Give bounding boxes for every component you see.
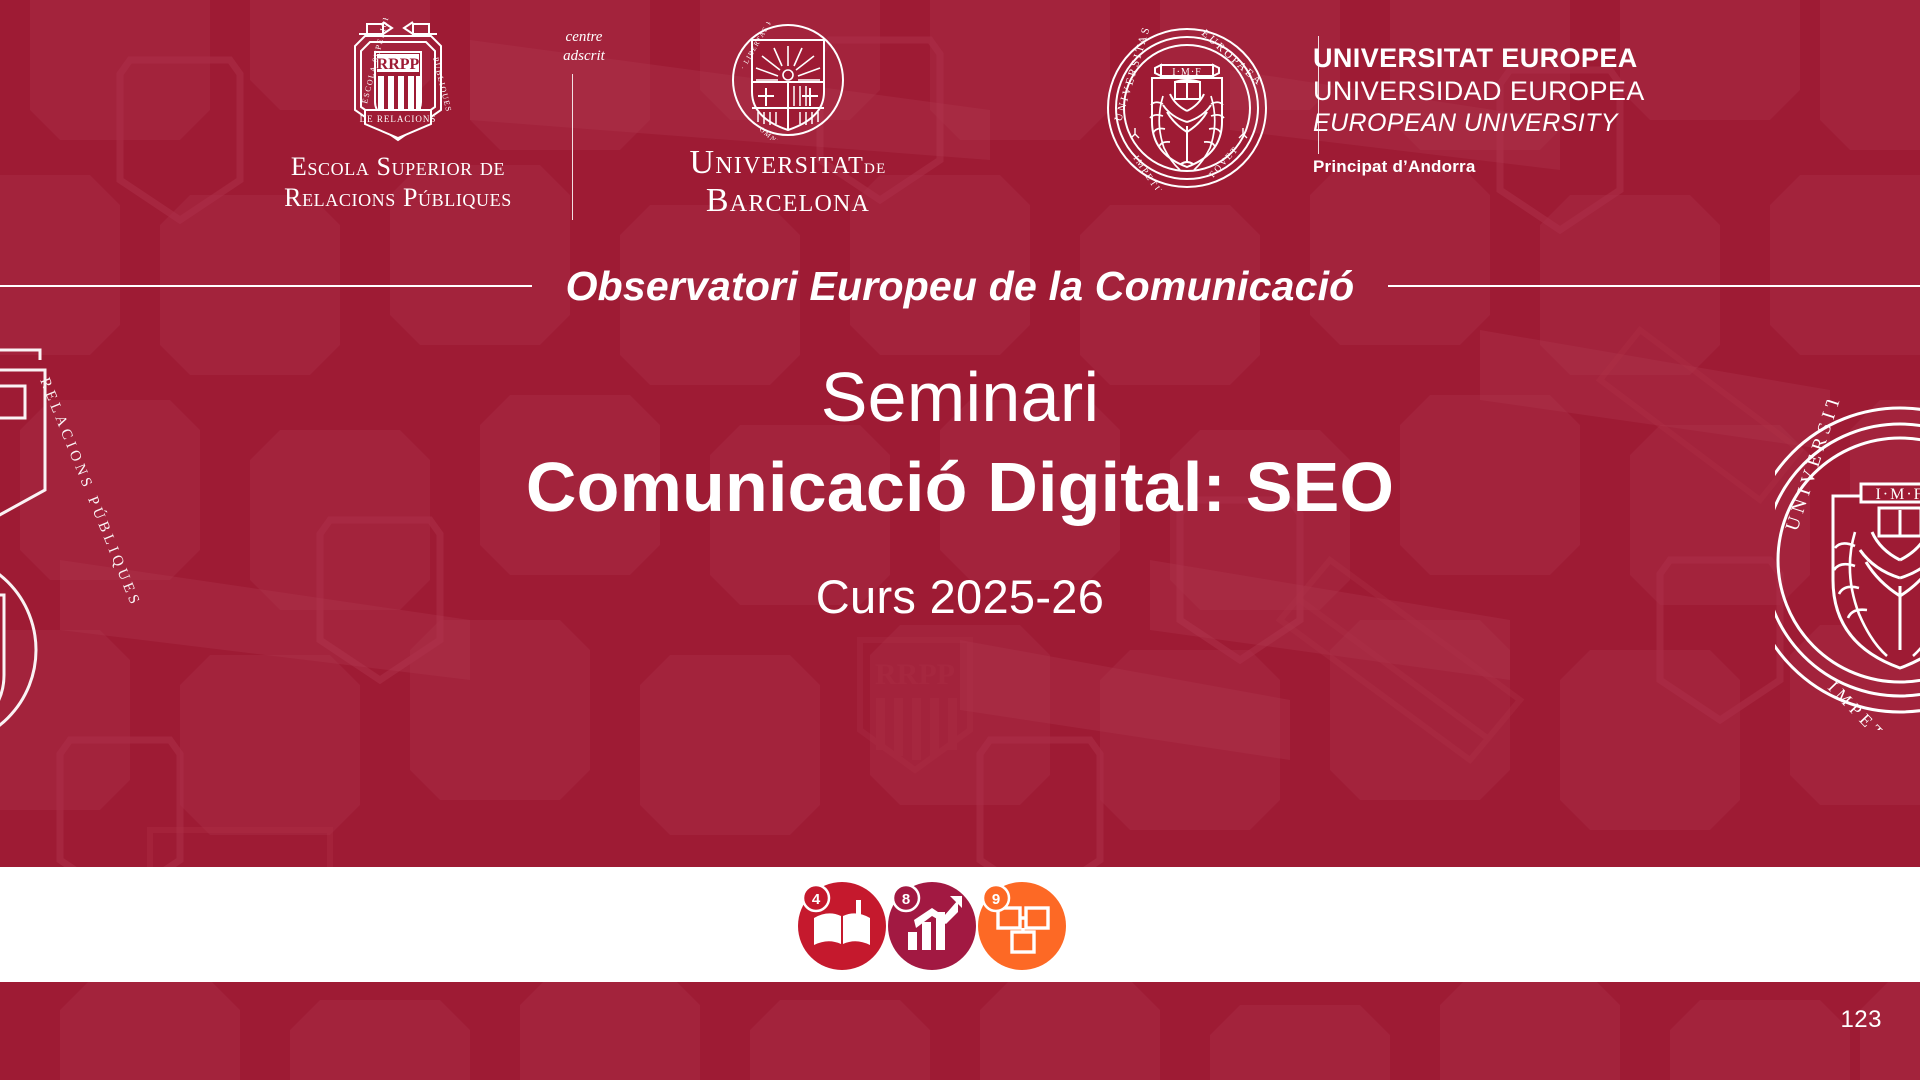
sdg-decent-work-growth-chart-icon: 8 [888, 882, 976, 970]
universitas-europaea-seal-icon: I·M·F UNIVERSITAS EUROPAEA IMPETUS FOVET [1105, 26, 1269, 195]
svg-text:8: 8 [902, 891, 910, 908]
logo-universitat-de-barcelona: · LIBERTAS PERFVNDET · · OMNIA LVCE · Un… [628, 22, 948, 220]
header-logos: RRPP DE RELACIONS ESCOLA SUPERIOR [0, 0, 1920, 250]
ub-wordmark: Universitatde Barcelona [628, 144, 948, 220]
header-divider-2 [1318, 36, 1319, 154]
ue-line-spanish: UNIVERSIDAD EUROPEA [1313, 75, 1645, 108]
sdg-icons-row: 4 8 [790, 878, 1120, 974]
esrp-wordmark: Escola Superior de Relacions Públiques [248, 152, 548, 213]
banner-rule-right [1388, 285, 1920, 287]
sdg-quality-education-book-icon: 4 [798, 882, 886, 970]
svg-text:RRPP: RRPP [377, 56, 420, 73]
logo-escola-superior-relacions-publiques: RRPP DE RELACIONS ESCOLA SUPERIOR [248, 18, 548, 213]
svg-text:4: 4 [812, 891, 821, 908]
banner-rule-left [0, 285, 532, 287]
ue-line-principat: Principat d’Andorra [1313, 157, 1645, 177]
svg-text:I·M·F: I·M·F [1172, 67, 1201, 78]
sdg-industry-innovation-cubes-icon: 9 [978, 882, 1066, 970]
ub-wordmark-de: de [864, 153, 886, 178]
ue-text-block: UNIVERSITAT EUROPEA UNIVERSIDAD EUROPEA … [1313, 26, 1645, 177]
ub-shield-crest-icon: · LIBERTAS PERFVNDET · · OMNIA LVCE · [628, 22, 948, 140]
svg-text:UNIVERSITAS: UNIVERSITAS [1112, 26, 1153, 123]
svg-text:IMPETUS · MA: IMPETUS · MA [1824, 678, 1920, 730]
ue-line-english: EUROPEAN UNIVERSITY [1313, 108, 1645, 139]
logo-universitat-europea: I·M·F UNIVERSITAS EUROPAEA IMPETUS FOVET [1105, 26, 1645, 195]
ub-wordmark-line1: Universitat [690, 144, 865, 181]
title-block: Seminari Comunicació Digital: SEO Curs 2… [0, 360, 1920, 624]
svg-text:DE RELACIONS: DE RELACIONS [360, 114, 437, 124]
esrp-shield-crest-icon: RRPP DE RELACIONS ESCOLA SUPERIOR [248, 18, 548, 146]
slide-root: RRPP [0, 0, 1920, 1080]
page-number: 123 [1840, 1006, 1882, 1034]
header-divider-1 [572, 74, 573, 220]
observatori-banner: Observatori Europeu de la Comunicació [0, 258, 1920, 314]
svg-text:RRPP: RRPP [875, 658, 955, 691]
title-line-course-year: Curs 2025-26 [0, 569, 1920, 624]
title-line-seminari: Seminari [0, 360, 1920, 436]
svg-text:9: 9 [992, 891, 1000, 908]
ue-line-catalan: UNIVERSITAT EUROPEA [1313, 42, 1645, 75]
ub-wordmark-line2: Barcelona [628, 182, 948, 220]
title-line-subject: Comunicació Digital: SEO [0, 448, 1920, 528]
banner-title: Observatori Europeu de la Comunicació [532, 263, 1389, 310]
centre-adscrit-label: centre adscrit [538, 28, 630, 66]
